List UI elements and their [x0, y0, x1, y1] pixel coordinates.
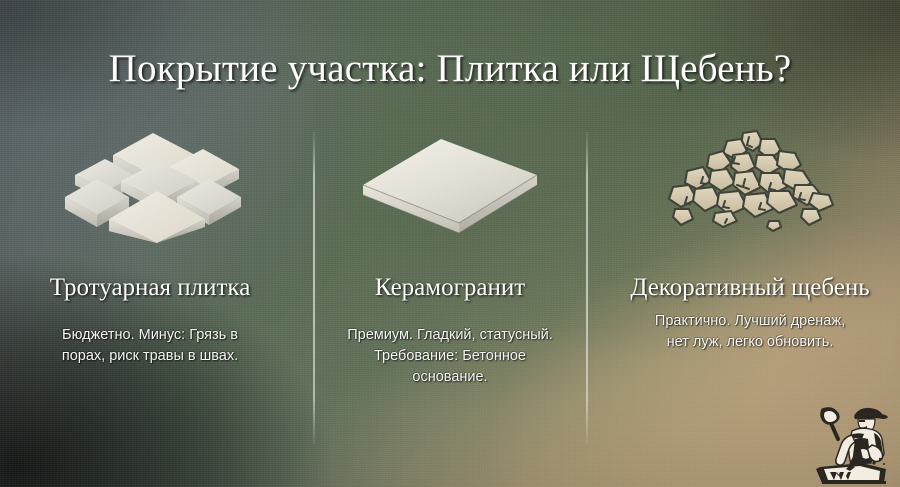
page-title: Покрытие участка: Плитка или Щебень? [0, 46, 900, 92]
comparison-columns: Тротуарная плитка Бюджетно. Минус: Грязь… [0, 120, 900, 460]
option-description: Премиум. Гладкий, статусный. Требование:… [343, 325, 558, 388]
option-heading: Керамогранит [375, 273, 525, 303]
gravel-pile-icon [600, 120, 900, 250]
stonemason-logo [800, 405, 892, 485]
paving-bricks-icon [0, 120, 300, 250]
option-column-porcelain-stoneware: Керамогранит Премиум. Гладкий, статусный… [300, 120, 600, 460]
option-description: Практично. Лучший дренаж, нет луж, легко… [643, 311, 858, 353]
slide-canvas: Покрытие участка: Плитка или Щебень? [0, 0, 900, 487]
option-column-paving-tile: Тротуарная плитка Бюджетно. Минус: Грязь… [0, 120, 300, 460]
option-description: Бюджетно. Минус: Грязь в порах, риск тра… [43, 325, 258, 367]
option-heading: Декоративный щебень [630, 273, 869, 303]
porcelain-slab-icon [300, 120, 600, 250]
option-heading: Тротуарная плитка [50, 273, 251, 303]
